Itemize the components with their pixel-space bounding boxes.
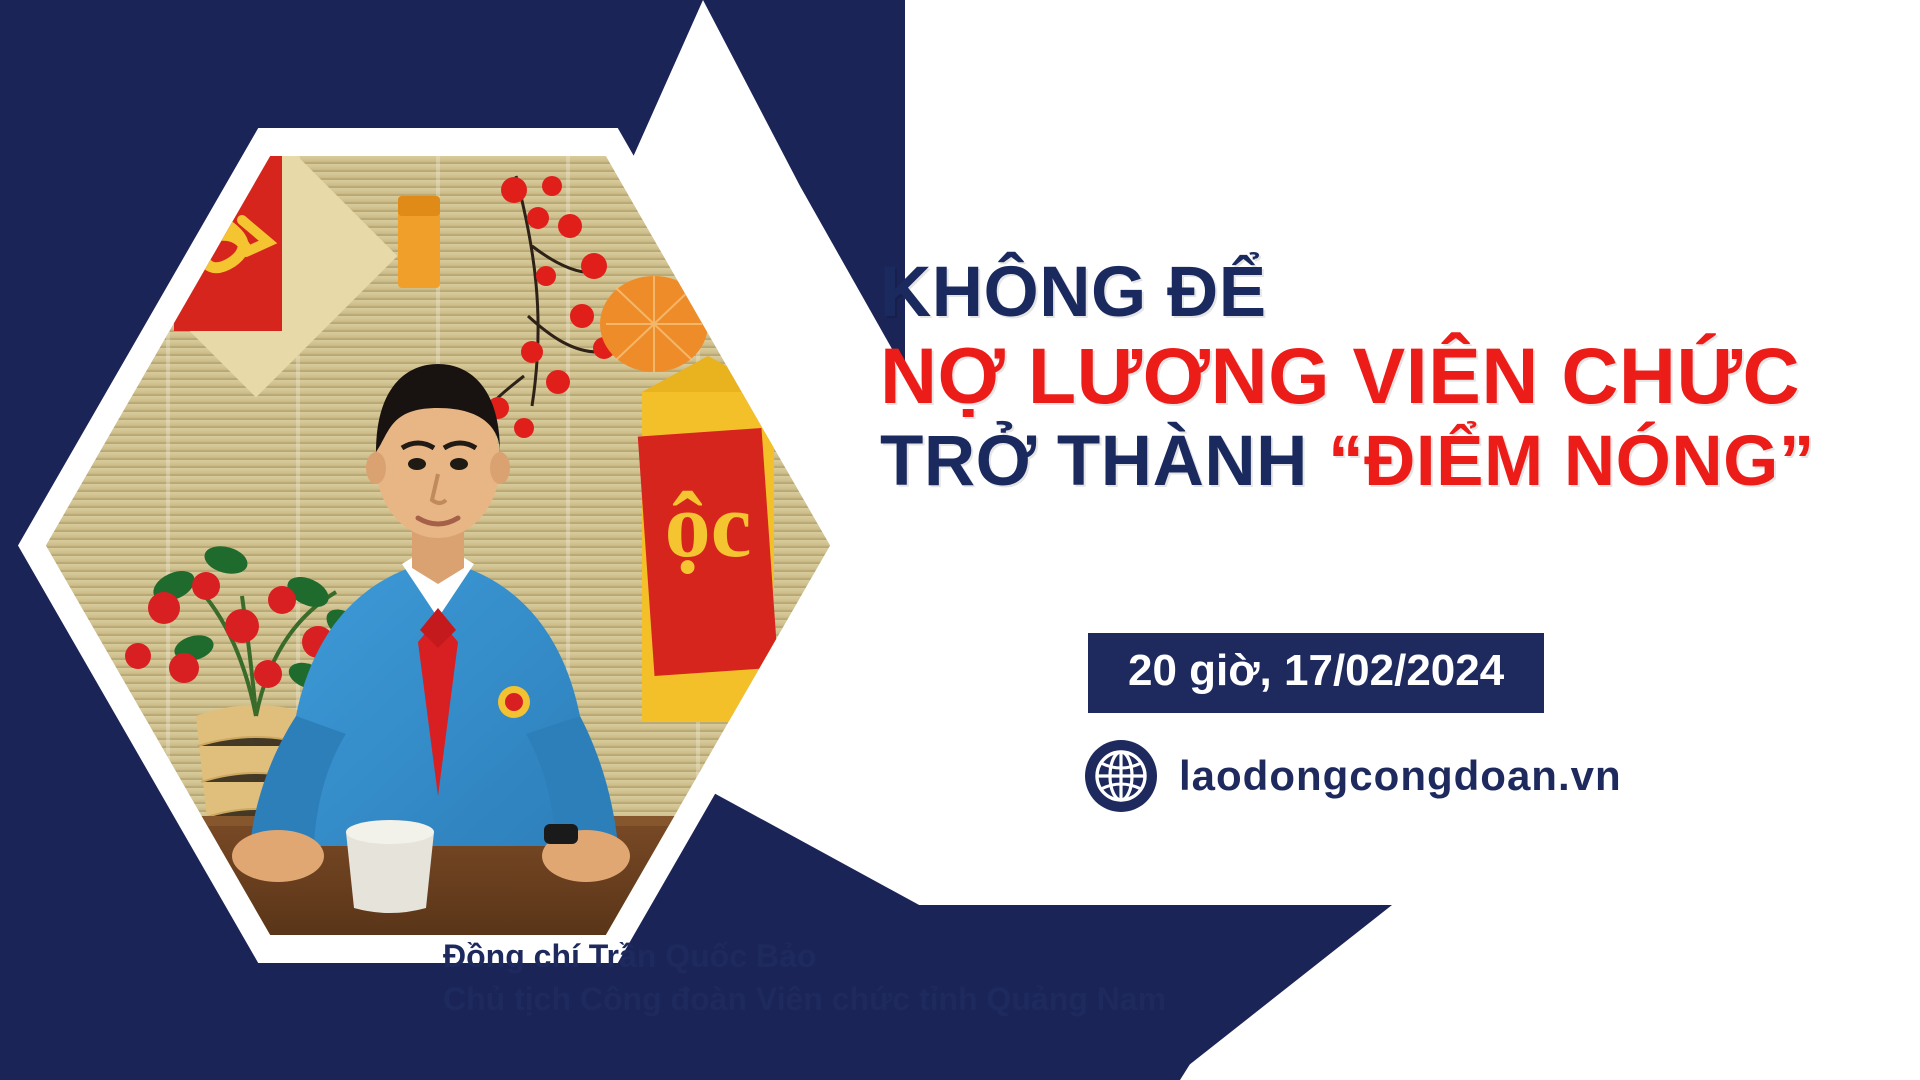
date-badge: 20 giờ, 17/02/2024: [1088, 633, 1544, 713]
speaker-name: Đồng chí Trần Quốc Bảo: [443, 935, 1166, 978]
speaker-title: Chủ tịch Công đoàn Viên chức tỉnh Quảng …: [443, 978, 1166, 1021]
headline-block: KHÔNG ĐỂ NỢ LƯƠNG VIÊN CHỨC TRỞ THÀNH “Đ…: [880, 255, 1890, 499]
svg-text:ộc: ộc: [665, 474, 752, 576]
headline-line-3-prefix: TRỞ THÀNH: [880, 422, 1328, 501]
headline-line-3: TRỞ THÀNH “ĐIỂM NÓNG”: [880, 424, 1890, 499]
globe-icon: [1085, 740, 1157, 812]
headline-line-1: KHÔNG ĐỂ: [880, 255, 1890, 330]
headline-line-3-quoted: “ĐIỂM NÓNG”: [1328, 422, 1815, 501]
website-row[interactable]: laodongcongdoan.vn: [1085, 740, 1622, 812]
headline-line-2: NỢ LƯƠNG VIÊN CHỨC: [880, 334, 1890, 418]
poster-canvas: ộc: [0, 0, 1920, 1080]
speaker-caption: Đồng chí Trần Quốc Bảo Chủ tịch Công đoà…: [443, 935, 1166, 1020]
website-url[interactable]: laodongcongdoan.vn: [1179, 752, 1622, 800]
